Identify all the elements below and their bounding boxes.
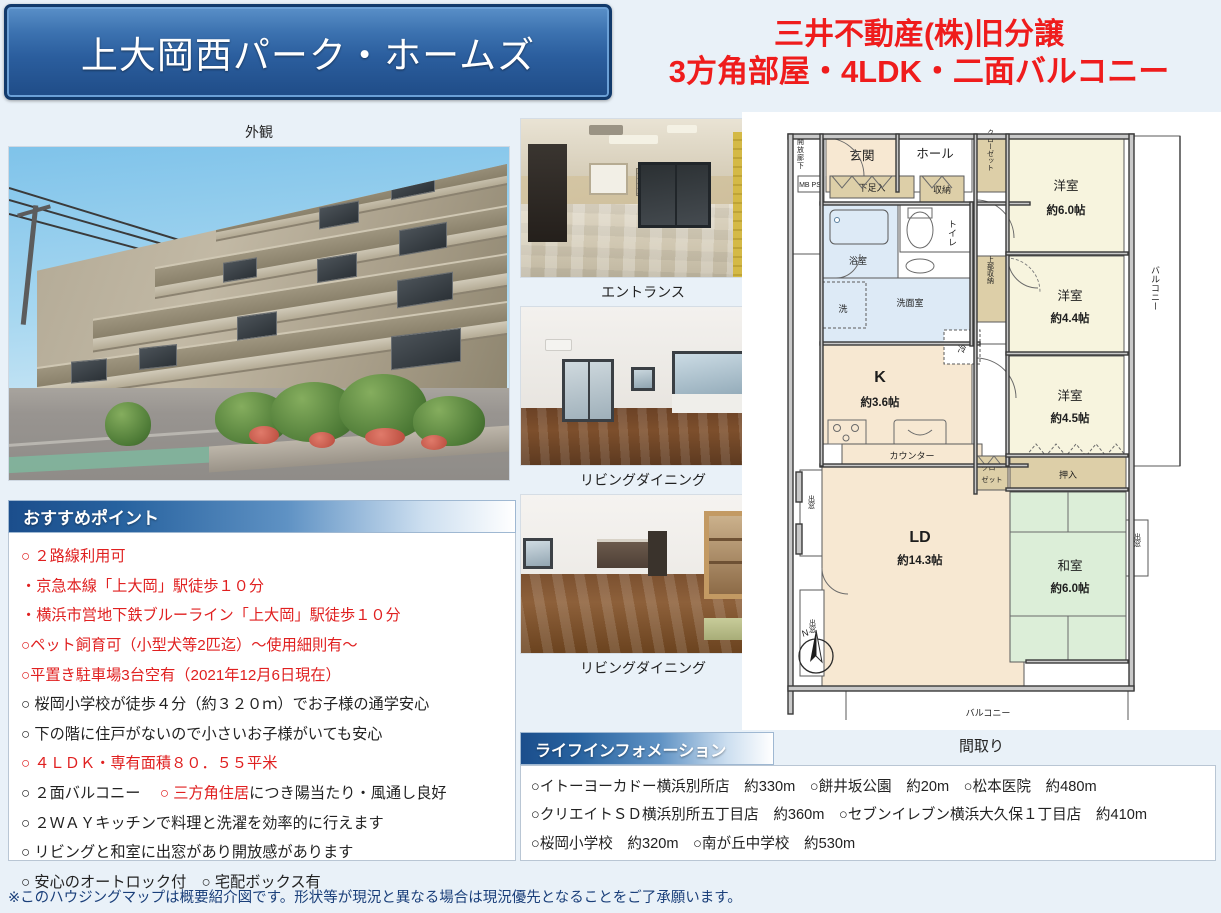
living-dining-photo-1 <box>520 306 766 466</box>
living-dining-caption-1: リビングダイニング <box>520 466 766 494</box>
recommended-points-list: ○ ２路線利用可 ・京急本線「上大岡」駅徒歩１０分 ・横浜市営地下鉄ブルーライン… <box>8 533 516 861</box>
floorplan-diagram: .w { fill:#c9c9c9; stroke:#3a3a3a; strok… <box>770 120 1202 720</box>
svg-text:トイレ: トイレ <box>947 220 957 247</box>
svg-text:バルコニー: バルコニー <box>966 708 1011 718</box>
svg-text:ゼット: ゼット <box>982 475 1003 484</box>
point-item: ○ 桜岡小学校が徒歩４分（約３２０ｍ）でお子様の通学安心 <box>21 690 503 720</box>
point-item: ○ ２ＷＡＹキッチンで料理と洗濯を効率的に行えます <box>21 809 503 839</box>
svg-text:洋室: 洋室 <box>1057 288 1082 303</box>
point-part-2: ○ 三方角住居 <box>160 785 249 802</box>
living-dining-caption-2: リビングダイニング <box>520 654 766 682</box>
exterior-photo-caption: 外観 <box>8 118 510 146</box>
page-header: 上大岡西パーク・ホームズ 三井不動産(株)旧分譲 3方角部屋・4LDK・二面バル… <box>0 0 1221 112</box>
svg-text:MB PS: MB PS <box>799 182 821 189</box>
life-info-row: ○桜岡小学校 約320m ○南が丘中学校 約530m <box>531 830 1205 858</box>
life-info-row: ○クリエイトＳＤ横浜別所五丁目店 約360m ○セブンイレブン横浜大久保１丁目店… <box>531 801 1205 829</box>
point-item: ○ペット飼育可（小型犬等2匹迄）〜使用細則有〜 <box>21 631 503 661</box>
property-title-banner: 上大岡西パーク・ホームズ <box>4 4 612 100</box>
svg-text:玄関: 玄関 <box>849 148 874 163</box>
tagline-line-1: 三井不動産(株)旧分譲 <box>774 17 1064 54</box>
life-info-row: ○イトーヨーカドー横浜別所店 約330m ○餅井坂公園 約20m ○松本医院 約… <box>531 773 1205 801</box>
hedge-icon <box>105 402 151 446</box>
svg-text:洋室: 洋室 <box>1053 178 1078 193</box>
point-item: ○ ４ＬＤＫ・専有面積８０．５５平米 <box>21 749 503 779</box>
svg-text:LD: LD <box>909 529 930 546</box>
point-part-1: ○ ２面バルコニー <box>21 785 160 802</box>
exterior-photo-block: 外観 <box>8 118 510 480</box>
svg-text:約3.6帖: 約3.6帖 <box>861 395 900 409</box>
point-item: ・京急本線「上大岡」駅徒歩１０分 <box>21 572 503 602</box>
svg-text:約6.0帖: 約6.0帖 <box>1051 581 1090 595</box>
svg-text:洗面室: 洗面室 <box>896 297 923 308</box>
point-item: ・横浜市営地下鉄ブルーライン「上大岡」駅徒歩１０分 <box>21 601 503 631</box>
svg-text:約4.5帖: 約4.5帖 <box>1051 411 1090 425</box>
exterior-photo <box>8 146 510 481</box>
svg-text:約6.0帖: 約6.0帖 <box>1047 203 1086 217</box>
svg-text:上部収納: 上部収納 <box>987 255 995 285</box>
svg-text:ホール: ホール <box>916 147 954 161</box>
living-dining-photo-2 <box>520 494 766 654</box>
svg-text:K: K <box>874 369 886 386</box>
recommended-points-section: おすすめポイント ○ ２路線利用可 ・京急本線「上大岡」駅徒歩１０分 ・横浜市営… <box>8 500 516 861</box>
point-item-mixed: ○ ２面バルコニー ○ 三方角住居につき陽当たり・風通し良好 <box>21 779 503 809</box>
svg-text:出窓: 出窓 <box>809 618 817 633</box>
footer-disclaimer: ※このハウジングマップは概要紹介図です。形状等が現況と異なる場合は現況優先となる… <box>8 886 742 907</box>
recommended-points-title: おすすめポイント <box>9 504 159 529</box>
interior-photo-column: エントランス リビングダイニング リビングダイニング <box>520 118 766 682</box>
svg-text:開放廊下: 開放廊下 <box>797 138 805 170</box>
svg-text:洋室: 洋室 <box>1057 388 1082 403</box>
life-information-title: ライフインフォメーション <box>521 737 726 761</box>
entrance-photo-caption: エントランス <box>520 278 766 306</box>
svg-text:洗: 洗 <box>838 303 847 314</box>
tagline-line-2: 3方角部屋・4LDK・二面バルコニー <box>669 53 1170 91</box>
point-item: ○ リビングと和室に出窓があり開放感があります <box>21 838 503 868</box>
floorplan-caption: 間取り <box>742 735 1221 756</box>
life-information-list: ○イトーヨーカドー横浜別所店 約330m ○餅井坂公園 約20m ○松本医院 約… <box>520 765 1216 861</box>
svg-text:約4.4帖: 約4.4帖 <box>1051 311 1090 325</box>
svg-text:約14.3帖: 約14.3帖 <box>897 553 943 567</box>
entrance-photo <box>520 118 766 278</box>
life-information-header: ライフインフォメーション <box>520 732 774 765</box>
point-item: ○ ２路線利用可 <box>21 542 503 572</box>
point-part-3: につき陽当たり・風通し良好 <box>249 785 446 802</box>
svg-text:バルコニー: バルコニー <box>1150 265 1160 310</box>
svg-text:出窓: 出窓 <box>808 494 816 509</box>
recommended-points-header: おすすめポイント <box>8 500 516 533</box>
point-item: ○ 下の階に住戸がないので小さいお子様がいても安心 <box>21 720 503 750</box>
svg-text:収納: 収納 <box>933 184 951 195</box>
svg-text:和室: 和室 <box>1057 558 1082 573</box>
point-item: ○平置き駐車場3台空有（2021年12月6日現在） <box>21 661 503 691</box>
svg-text:押入: 押入 <box>1059 469 1077 480</box>
page-title: 上大岡西パーク・ホームズ <box>81 25 535 79</box>
header-tagline: 三井不動産(株)旧分譲 3方角部屋・4LDK・二面バルコニー <box>620 8 1218 100</box>
svg-text:カウンター: カウンター <box>889 451 934 461</box>
